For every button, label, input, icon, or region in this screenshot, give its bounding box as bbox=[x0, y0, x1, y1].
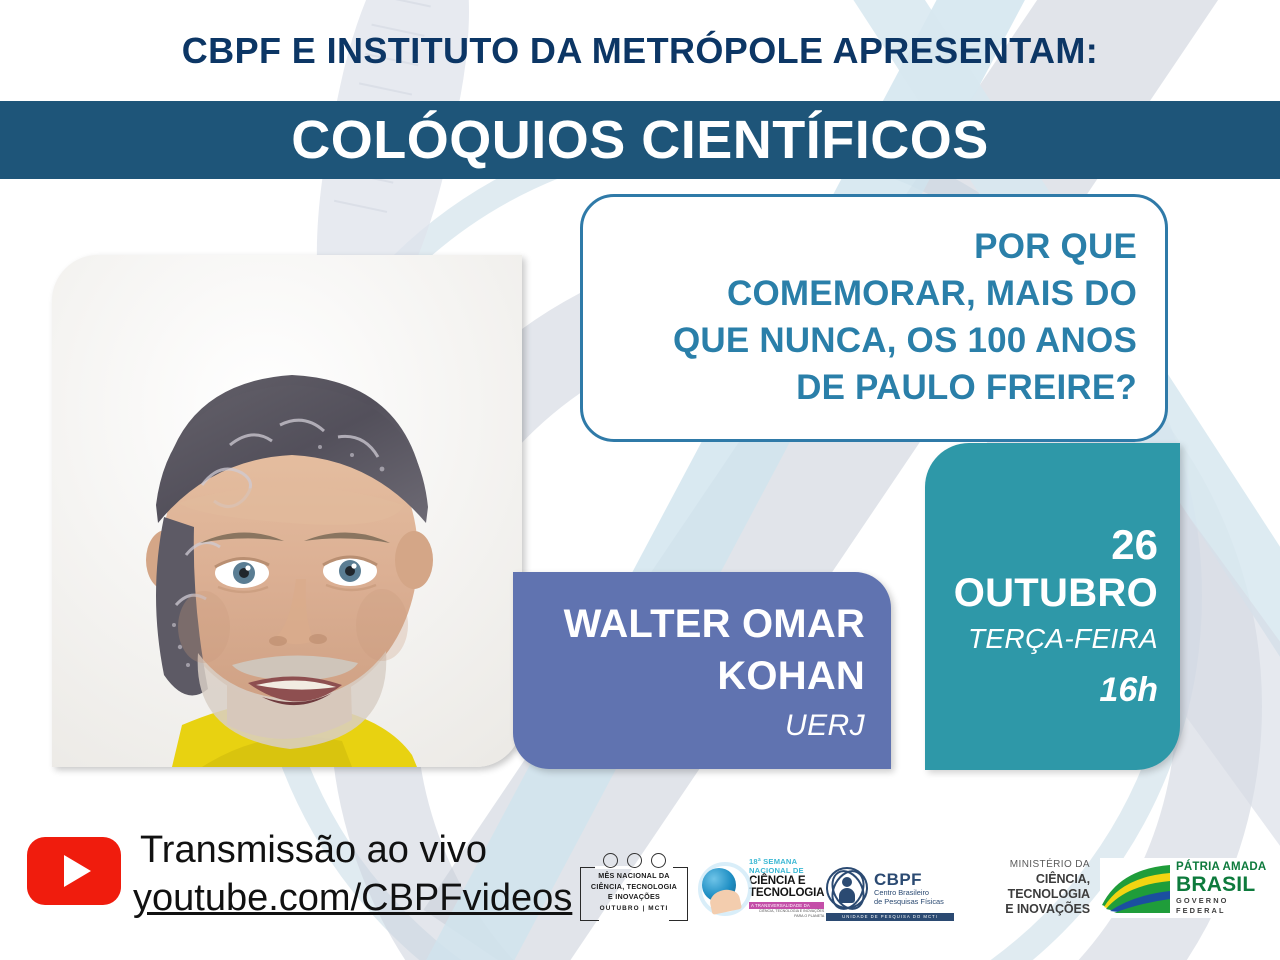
semana-tagline-2: CIÊNCIA, TECNOLOGIA E INOVAÇÕES PARA O P… bbox=[749, 909, 824, 919]
semana-line-4: TECNOLOGIA bbox=[749, 887, 824, 900]
colloquium-question-card: POR QUE COMEMORAR, MAIS DO QUE NUNCA, OS… bbox=[580, 194, 1168, 442]
brasil-line-3: GOVERNO FEDERAL bbox=[1176, 896, 1276, 916]
semana-line-1: 18ª SEMANA bbox=[749, 857, 824, 866]
question-line-2: COMEMORAR, MAIS DO bbox=[609, 270, 1137, 317]
gear-icon bbox=[603, 853, 618, 868]
mes-line-1: MÊS NACIONAL DA bbox=[578, 871, 690, 882]
mes-nacional-logo: MÊS NACIONAL DA CIÊNCIA, TECNOLOGIA E IN… bbox=[578, 851, 690, 925]
speaker-name-card: WALTER OMAR KOHAN UERJ bbox=[513, 572, 891, 769]
ministerio-logo: MINISTÉRIO DA CIÊNCIA, TECNOLOGIA E INOV… bbox=[966, 858, 1090, 918]
brasil-line-2: BRASIL bbox=[1176, 874, 1276, 896]
mes-line-2: CIÊNCIA, TECNOLOGIA bbox=[578, 882, 690, 893]
cbpf-logo: CBPF Centro Brasileiro de Pesquisas Físi… bbox=[826, 856, 954, 920]
cbpf-acronym: CBPF bbox=[874, 871, 954, 888]
mes-line-3: E INOVAÇÕES bbox=[578, 892, 690, 903]
cbpf-line-1: Centro Brasileiro bbox=[874, 888, 954, 897]
speaker-photo bbox=[52, 255, 522, 767]
lightbulb-icon bbox=[651, 853, 666, 868]
semana-nacional-logo: 18ª SEMANA NACIONAL DE CIÊNCIA E TECNOLO… bbox=[698, 851, 816, 925]
cbpf-text-block: CBPF Centro Brasileiro de Pesquisas Físi… bbox=[868, 871, 954, 906]
speaker-name-line-1: WALTER OMAR bbox=[527, 598, 865, 650]
cbpf-body-shape bbox=[839, 888, 855, 903]
cbpf-line-2: de Pesquisas Físicas bbox=[874, 897, 954, 906]
event-time: 16h bbox=[935, 661, 1158, 719]
presenters-headline: CBPF E INSTITUTO DA METRÓPOLE APRESENTAM… bbox=[0, 30, 1280, 72]
semana-globe-hand-icon bbox=[698, 858, 746, 918]
series-title: COLÓQUIOS CIENTÍFICOS bbox=[0, 105, 1280, 175]
atom-icon bbox=[627, 853, 642, 868]
speaker-affiliation: UERJ bbox=[527, 702, 865, 750]
brasil-line-1: PÁTRIA AMADA bbox=[1176, 861, 1276, 874]
question-line-1: POR QUE bbox=[609, 223, 1137, 270]
ministerio-line-1: MINISTÉRIO DA bbox=[966, 858, 1090, 872]
live-broadcast-label: Transmissão ao vivo bbox=[140, 826, 487, 874]
cbpf-atom-icon bbox=[826, 867, 868, 909]
youtube-icon[interactable] bbox=[27, 837, 121, 905]
event-date-card: 26 OUTUBRO TERÇA-FEIRA 16h bbox=[925, 443, 1180, 770]
cbpf-head-dot bbox=[842, 877, 852, 887]
sponsor-logo-strip: MÊS NACIONAL DA CIÊNCIA, TECNOLOGIA E IN… bbox=[578, 842, 1278, 934]
play-triangle-icon bbox=[64, 855, 91, 887]
broadcast-url-link[interactable]: youtube.com/CBPFvideos bbox=[133, 874, 572, 922]
mes-nacional-text: MÊS NACIONAL DA CIÊNCIA, TECNOLOGIA E IN… bbox=[578, 871, 690, 914]
event-month: OUTUBRO bbox=[935, 569, 1158, 617]
event-weekday: TERÇA-FEIRA bbox=[935, 617, 1158, 661]
speaker-name-line-2: KOHAN bbox=[527, 650, 865, 702]
ministerio-line-2: CIÊNCIA, TECNOLOGIA bbox=[966, 872, 1090, 902]
brasil-text-block: PÁTRIA AMADA BRASIL GOVERNO FEDERAL bbox=[1172, 861, 1276, 916]
mes-nacional-icons bbox=[578, 851, 690, 869]
mes-line-4: OUTUBRO | MCTI bbox=[578, 903, 690, 915]
question-line-3: QUE NUNCA, OS 100 ANOS bbox=[609, 317, 1137, 364]
poster-canvas: CBPF E INSTITUTO DA METRÓPOLE APRESENTAM… bbox=[0, 0, 1280, 960]
brazil-flag-icon bbox=[1100, 863, 1172, 913]
governo-federal-logo: PÁTRIA AMADA BRASIL GOVERNO FEDERAL bbox=[1100, 858, 1276, 918]
question-line-4: DE PAULO FREIRE? bbox=[609, 364, 1137, 411]
cbpf-unit-bar: UNIDADE DE PESQUISA DO MCTI bbox=[826, 913, 954, 921]
event-day: 26 bbox=[935, 521, 1158, 569]
semana-text-block: 18ª SEMANA NACIONAL DE CIÊNCIA E TECNOLO… bbox=[746, 857, 824, 920]
ministerio-line-3: E INOVAÇÕES bbox=[966, 902, 1090, 917]
